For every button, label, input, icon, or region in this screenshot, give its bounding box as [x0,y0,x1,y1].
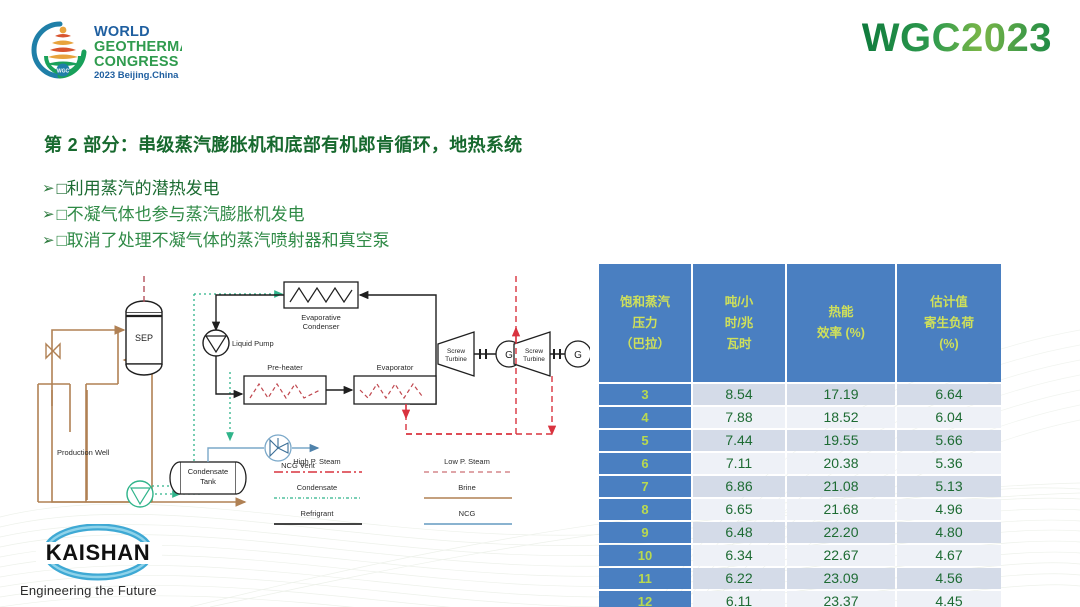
pre-heater [244,376,326,404]
logo-line-geothermal: GEOTHERMAL [94,39,182,55]
cell-steam-rate: 6.86 [693,476,785,497]
generator-2-label: G [574,350,582,361]
list-item: ➢ □ 利用蒸汽的潜热发电 [42,176,390,202]
column-header-pressure-l3: （巴拉） [620,337,670,351]
page-title-prefix: 第 2 部分： [44,135,138,155]
bullet-spacer: □ [57,176,65,202]
cell-thermal-efficiency: 17.19 [787,384,895,405]
table-row: 38.5417.196.64 [599,384,1001,405]
logo-line-city: 2023 Beijing.China [94,70,179,81]
ncg-vent-fan [265,435,291,461]
legend-label-condensate: Condensate [297,483,337,492]
logo-line-congress: CONGRESS [94,54,179,70]
cell-pressure: 4 [599,407,691,428]
column-header-parasitic-load-l1: 估计值 [930,295,968,309]
cell-thermal-efficiency: 23.09 [787,568,895,589]
column-header-pressure-l1: 饱和蒸汽 [620,295,670,309]
cell-pressure: 11 [599,568,691,589]
evaporative-condenser-label-2: Condenser [303,322,340,331]
cell-parasitic-load: 4.56 [897,568,1001,589]
cell-parasitic-load: 4.45 [897,591,1001,607]
arrow-bullet-icon: ➢ [42,202,55,228]
table-body: 38.5417.196.64 47.8818.526.04 57.4419.55… [599,384,1001,607]
column-header-thermal-efficiency-l2: 效率 (%) [817,326,865,340]
cell-parasitic-load: 5.13 [897,476,1001,497]
list-item: ➢ □ 不凝气体也参与蒸汽膨胀机发电 [42,202,390,228]
cell-parasitic-load: 4.96 [897,499,1001,520]
cell-pressure: 8 [599,499,691,520]
table-row: 57.4419.555.66 [599,430,1001,451]
cell-parasitic-load: 5.66 [897,430,1001,451]
cell-parasitic-load: 6.04 [897,407,1001,428]
process-flow-diagram: Production Well SEP Evaporative [30,272,590,537]
cell-thermal-efficiency: 22.20 [787,522,895,543]
cell-thermal-efficiency: 20.38 [787,453,895,474]
cell-pressure: 6 [599,453,691,474]
screw-turbine-1-label-a: Screw [447,348,465,355]
column-header-parasitic-load: 估计值 寄生负荷 (%) [897,264,1001,382]
condensate-tank-label-2: Tank [200,477,216,486]
screw-turbine-2-label-b: Turbine [523,356,545,363]
wgc-congress-logo: WGC WORLD GEOTHERMAL CONGRESS 2023 Beiji… [22,12,182,82]
cell-pressure: 5 [599,430,691,451]
table-row: 126.1123.374.45 [599,591,1001,607]
legend-label-refrigrant: Refrigrant [301,509,335,518]
table-row: 47.8818.526.04 [599,407,1001,428]
pre-heater-label: Pre-heater [267,363,303,372]
list-item: ➢ □ 取消了处理不凝气体的蒸汽喷射器和真空泵 [42,228,390,254]
table-row: 67.1120.385.36 [599,453,1001,474]
page-title: 第 2 部分：串级蒸汽膨胀机和底部有机郎肯循环，地热系统 [44,131,522,157]
cell-pressure: 9 [599,522,691,543]
column-header-parasitic-load-l2: 寄生负荷 [924,316,974,330]
bullet-spacer: □ [57,202,65,228]
table-row: 106.3422.674.67 [599,545,1001,566]
table-header-row: 饱和蒸汽 压力 （巴拉） 吨/小 时/兆 瓦时 热能 效率 (%) 估计值 寄生… [599,264,1001,382]
column-header-steam-rate-l3: 瓦时 [726,337,751,351]
cell-steam-rate: 6.22 [693,568,785,589]
performance-table: 饱和蒸汽 压力 （巴拉） 吨/小 时/兆 瓦时 热能 效率 (%) 估计值 寄生… [597,262,1003,607]
cell-parasitic-load: 5.36 [897,453,1001,474]
cell-steam-rate: 6.48 [693,522,785,543]
condensate-pump [127,481,153,507]
list-item-label: 取消了处理不凝气体的蒸汽喷射器和真空泵 [67,228,390,254]
screw-turbine-1: Screw Turbine G [438,332,522,376]
cell-steam-rate: 7.44 [693,430,785,451]
screw-turbine-2-label-a: Screw [525,348,543,355]
legend-label-ncg: NCG [459,509,476,518]
generator-1-label: G [505,350,513,361]
logo-line-world: WORLD [94,24,150,40]
cell-thermal-efficiency: 23.37 [787,591,895,607]
column-header-pressure-l2: 压力 [632,316,657,330]
evaporative-condenser [284,282,358,308]
separator-vessel: SEP [126,301,162,375]
evaporator [354,376,436,404]
logo-pagoda-icon [47,27,79,66]
cell-steam-rate: 6.65 [693,499,785,520]
cell-thermal-efficiency: 21.08 [787,476,895,497]
liquid-pump-label: Liquid Pump [232,339,274,348]
evaporative-condenser-label-1: Evaporative [301,313,341,322]
column-header-parasitic-load-l3: (%) [939,337,958,351]
liquid-pump [203,330,229,356]
cell-parasitic-load: 6.64 [897,384,1001,405]
column-header-pressure: 饱和蒸汽 压力 （巴拉） [599,264,691,382]
cell-parasitic-load: 4.80 [897,522,1001,543]
cell-steam-rate: 6.11 [693,591,785,607]
screw-turbine-2: Screw Turbine G [514,332,590,376]
arrow-bullet-icon: ➢ [42,228,55,254]
cell-steam-rate: 7.11 [693,453,785,474]
slide-root: WGC WORLD GEOTHERMAL CONGRESS 2023 Beiji… [0,0,1080,607]
legend-label-high-p-steam: High P. Steam [293,457,340,466]
column-header-thermal-efficiency: 热能 效率 (%) [787,264,895,382]
cell-thermal-efficiency: 21.68 [787,499,895,520]
valve-icon [46,344,60,358]
table-row: 76.8621.085.13 [599,476,1001,497]
column-header-steam-rate-l2: 时/兆 [725,316,753,330]
cell-pressure: 10 [599,545,691,566]
list-item-label: 不凝气体也参与蒸汽膨胀机发电 [67,202,305,228]
kaishan-wordmark: KAISHAN [46,540,150,565]
legend-label-low-p-steam: Low P. Steam [444,457,490,466]
page-title-strong: 有机郎肯循环 [321,135,431,155]
page-title-suffix: ，地热系统 [431,135,523,155]
column-header-steam-rate-l1: 吨/小 [725,295,753,309]
cell-thermal-efficiency: 22.67 [787,545,895,566]
cell-thermal-efficiency: 19.55 [787,430,895,451]
condensate-tank: Condensate Tank [170,462,246,494]
bullet-list: ➢ □ 利用蒸汽的潜热发电 ➢ □ 不凝气体也参与蒸汽膨胀机发电 ➢ □ 取消了… [42,176,390,254]
bullet-spacer: □ [57,228,65,254]
column-header-steam-rate: 吨/小 时/兆 瓦时 [693,264,785,382]
separator-label: SEP [135,333,153,343]
cell-pressure: 3 [599,384,691,405]
table-row: 86.6521.684.96 [599,499,1001,520]
condensate-tank-label-1: Condensate [188,467,228,476]
kaishan-tagline: Engineering the Future [20,583,157,598]
production-well-label: Production Well [57,448,110,457]
evaporator-label: Evaporator [377,363,414,372]
legend-label-brine: Brine [458,483,476,492]
cell-parasitic-load: 4.67 [897,545,1001,566]
logo-badge-text: WGC [57,69,70,75]
list-item-label: 利用蒸汽的潜热发电 [67,176,220,202]
table-row: 116.2223.094.56 [599,568,1001,589]
cell-pressure: 7 [599,476,691,497]
column-header-thermal-efficiency-l1: 热能 [828,305,853,319]
cell-steam-rate: 8.54 [693,384,785,405]
brand-title: WGC2023 [862,18,1052,58]
page-title-mid: 串级蒸汽膨胀机和底部 [138,135,321,155]
arrow-bullet-icon: ➢ [42,176,55,202]
table-row: 96.4822.204.80 [599,522,1001,543]
cell-pressure: 12 [599,591,691,607]
cell-thermal-efficiency: 18.52 [787,407,895,428]
screw-turbine-1-label-b: Turbine [445,356,467,363]
cell-steam-rate: 6.34 [693,545,785,566]
cell-steam-rate: 7.88 [693,407,785,428]
